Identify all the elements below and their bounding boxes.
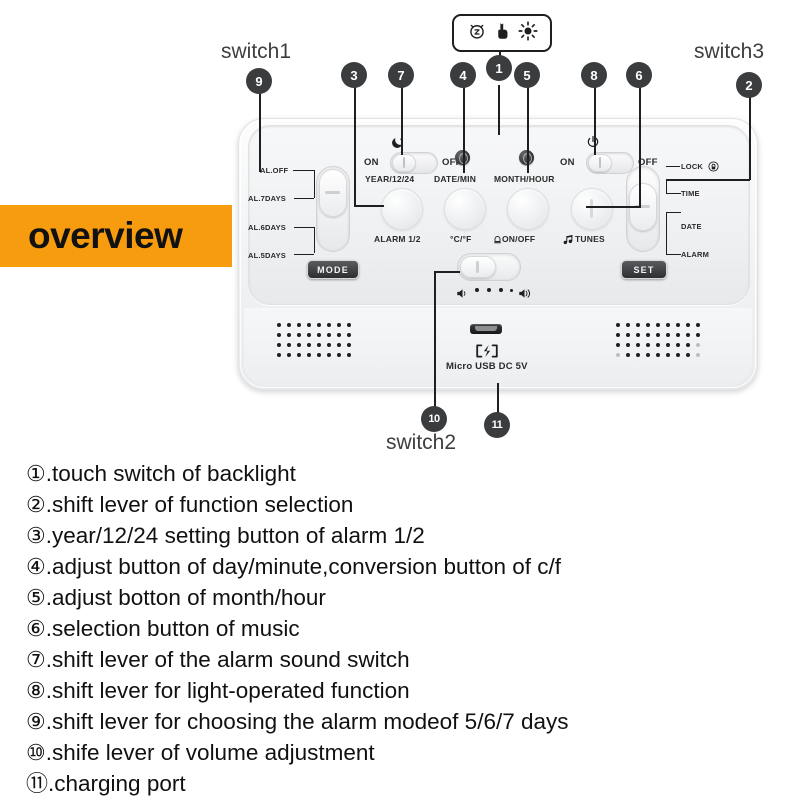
volume-dot-1 [475, 288, 479, 292]
volume-dot-2 [487, 288, 491, 292]
callout-8[interactable]: 8 [581, 62, 607, 88]
volume-dot-3 [499, 288, 503, 292]
bracket-al-6days [294, 227, 315, 253]
legend-item-11: ⑪.charging port [26, 768, 786, 799]
bracket-al-off [293, 170, 315, 198]
legend-item-5: ⑤.adjust botton of month/hour [26, 582, 786, 613]
leader-5 [527, 80, 529, 173]
legend-num-11: ⑪ [26, 771, 48, 796]
bracket-date [666, 212, 681, 227]
alarm-sound-toggle-knob[interactable] [392, 154, 416, 172]
legend-text-11: .charging port [48, 771, 186, 796]
legend-num-4: ④ [26, 554, 46, 579]
legend-text-5: .adjust botton of month/hour [46, 585, 326, 610]
overview-banner: overview [0, 205, 232, 267]
legend-item-9: ⑨.shift lever for choosing the alarm mod… [26, 706, 786, 737]
tunes-button[interactable] [571, 188, 613, 230]
legend-num-5: ⑤ [26, 585, 46, 610]
legend-num-10: ⑩ [26, 740, 46, 765]
label-micro-usb: Micro USB DC 5V [446, 361, 528, 372]
bracket-time [666, 180, 681, 194]
leader-10-v [434, 272, 436, 412]
speaker-grille-left [277, 323, 351, 357]
leader-3-h [354, 205, 384, 207]
label-year-12-24: YEAR/12/24 [365, 174, 414, 184]
legend-item-7: ⑦.shift lever of the alarm sound switch [26, 644, 786, 675]
set-button[interactable]: SET [621, 260, 667, 279]
label-alarm-1-2: ALARM 1/2 [374, 234, 421, 244]
legend-num-3: ③ [26, 523, 46, 548]
callout-9[interactable]: 9 [246, 68, 272, 94]
label-al-5days: AL.5DAYS [248, 251, 286, 260]
leader-1 [498, 85, 500, 135]
legend-item-2: ②.shift lever of function selection [26, 489, 786, 520]
legend-text-4: .adjust button of day/minute,conversion … [46, 554, 561, 579]
legend-num-6: ⑥ [26, 616, 46, 641]
speaker-high-icon [518, 286, 531, 304]
alarm-sound-toggle[interactable] [390, 152, 438, 174]
caption-switch2: switch2 [386, 431, 456, 455]
label-month-hour: MONTH/HOUR [494, 174, 555, 184]
legend-text-10: .shife lever of volume adjustment [46, 740, 375, 765]
callout-2[interactable]: 2 [736, 72, 762, 98]
alarm-clock-device: AL.OFF AL.7DAYS AL.6DAYS AL.5DAYS MODE O… [238, 118, 758, 390]
caption-switch1: switch1 [221, 40, 291, 64]
alarm-mode-lever-knob[interactable] [319, 169, 347, 217]
legend-text-8: .shift lever for light-operated function [46, 678, 410, 703]
tunes-button-notch [590, 199, 593, 218]
label-al-off: AL.OFF [260, 166, 288, 175]
set-button-label: SET [633, 265, 654, 275]
speaker-low-icon [456, 286, 469, 304]
label-on-off: ON/OFF [502, 234, 535, 244]
leader-4 [463, 80, 465, 173]
legend-text-6: .selection button of music [46, 616, 300, 641]
mode-button[interactable]: MODE [307, 260, 359, 279]
volume-dot-4 [510, 289, 513, 292]
leader-11 [497, 383, 499, 413]
legend-text-9: .shift lever for choosing the alarm mode… [46, 709, 569, 734]
alarm-1-2-button[interactable] [381, 188, 423, 230]
overview-diagram: overview [0, 0, 800, 800]
label-al-6days: AL.6DAYS [248, 223, 286, 232]
light-operated-toggle-knob[interactable] [588, 154, 612, 172]
legend-list: ①.touch switch of backlight ②.shift leve… [26, 458, 786, 799]
legend-text-2: .shift lever of function selection [46, 492, 354, 517]
brightness-sun-icon [518, 21, 538, 46]
light-on-off-button[interactable] [507, 188, 549, 230]
light-operated-toggle[interactable] [586, 152, 634, 174]
legend-text-1: .touch switch of backlight [46, 461, 296, 486]
callout-6[interactable]: 6 [626, 62, 652, 88]
c-f-button[interactable] [444, 188, 486, 230]
bell-icon [493, 232, 502, 250]
callout-1[interactable]: 1 [486, 55, 512, 81]
legend-num-1: ① [26, 461, 46, 486]
leader-8 [594, 80, 596, 155]
legend-num-8: ⑧ [26, 678, 46, 703]
lock-icon [708, 159, 719, 177]
label-date-min: DATE/MIN [434, 174, 476, 184]
speaker-grille-right [616, 323, 700, 357]
leader-2-h [666, 179, 750, 181]
alarm-snooze-icon [467, 21, 487, 46]
label-time: TIME [681, 189, 700, 198]
legend-num-7: ⑦ [26, 647, 46, 672]
leader-3-v [354, 80, 356, 206]
callout-3[interactable]: 3 [341, 62, 367, 88]
backlight-icon-capsule [452, 14, 552, 52]
callout-11[interactable]: 11 [484, 412, 510, 438]
label-c-f: °C/°F [450, 234, 472, 244]
label-date: DATE [681, 222, 702, 231]
leader-10-h [434, 271, 460, 273]
overview-banner-label: overview [0, 215, 182, 257]
legend-item-3: ③.year/12/24 setting button of alarm 1/2 [26, 520, 786, 551]
mode-button-label: MODE [317, 265, 349, 275]
legend-num-9: ⑨ [26, 709, 46, 734]
leader-6-v [639, 80, 641, 208]
label-alarm: ALARM [681, 250, 709, 259]
legend-item-10: ⑩.shife lever of volume adjustment [26, 737, 786, 768]
legend-item-6: ⑥.selection button of music [26, 613, 786, 644]
callout-4[interactable]: 4 [450, 62, 476, 88]
callout-5[interactable]: 5 [514, 62, 540, 88]
volume-slider-knob[interactable] [460, 256, 496, 278]
callout-10[interactable]: 10 [421, 406, 447, 432]
function-selection-lever[interactable] [626, 166, 660, 252]
bracket-alarm [666, 227, 681, 255]
caption-switch3: switch3 [694, 40, 764, 64]
alarm-sound-on-label: ON [364, 157, 379, 168]
legend-item-1: ①.touch switch of backlight [26, 458, 786, 489]
legend-text-7: .shift lever of the alarm sound switch [46, 647, 410, 672]
legend-item-8: ⑧.shift lever for light-operated functio… [26, 675, 786, 706]
bracket-al-5days [294, 254, 314, 256]
legend-item-4: ④.adjust button of day/minute,conversion… [26, 551, 786, 582]
legend-num-2: ② [26, 492, 46, 517]
callout-7[interactable]: 7 [388, 62, 414, 88]
label-lock: LOCK [681, 162, 703, 171]
leader-7 [401, 80, 403, 155]
alarm-mode-lever[interactable] [316, 166, 350, 252]
touch-hand-icon [494, 21, 511, 46]
label-al-7days: AL.7DAYS [248, 194, 286, 203]
volume-slider[interactable] [457, 253, 521, 281]
legend-text-3: .year/12/24 setting button of alarm 1/2 [46, 523, 425, 548]
label-tunes: TUNES [575, 234, 605, 244]
bracket-lock [666, 166, 680, 168]
leader-6-h [586, 206, 640, 208]
music-note-icon [563, 232, 574, 250]
micro-usb-port-inner [475, 326, 497, 331]
light-switch-on-label: ON [560, 157, 575, 168]
bracket-al-7days [294, 198, 314, 200]
